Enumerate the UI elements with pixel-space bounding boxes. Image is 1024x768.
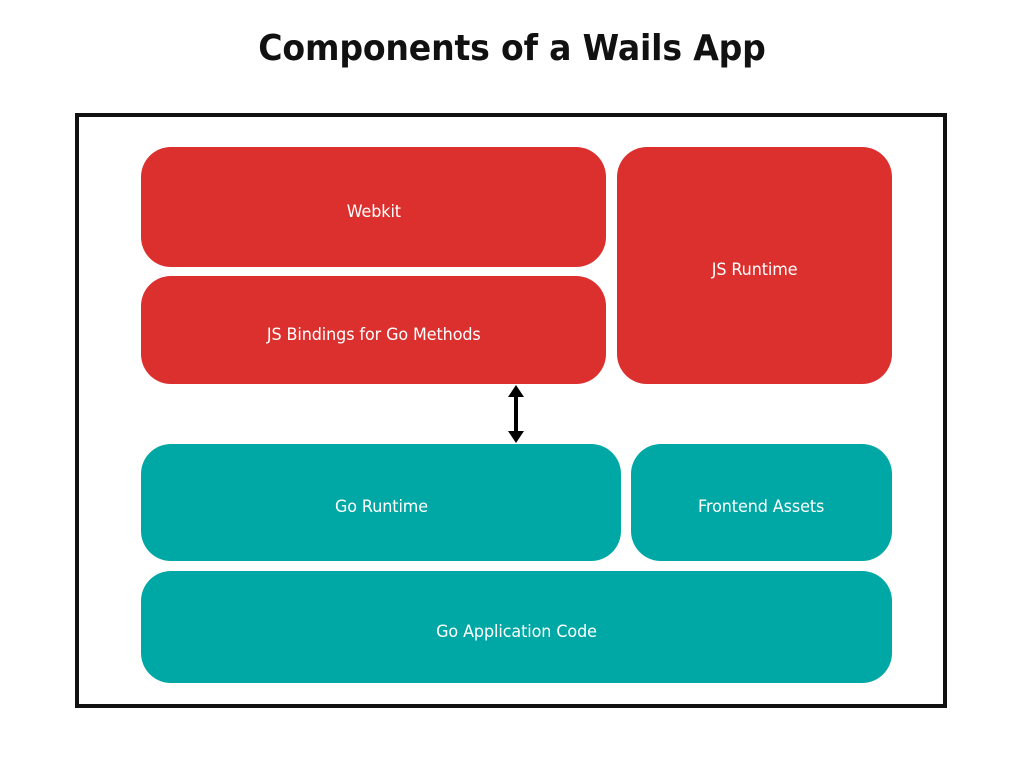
node-js-runtime[interactable]: JS Runtime <box>617 147 892 384</box>
double-headed-vertical-arrow-icon <box>504 385 528 443</box>
node-js-bindings[interactable]: JS Bindings for Go Methods <box>141 276 606 384</box>
node-webkit[interactable]: Webkit <box>141 147 606 267</box>
node-js-bindings-label: JS Bindings for Go Methods <box>267 325 481 345</box>
node-go-application-code-label: Go Application Code <box>436 622 597 642</box>
node-go-runtime-label: Go Runtime <box>334 497 427 517</box>
node-frontend-assets[interactable]: Frontend Assets <box>631 444 892 561</box>
page-title: Components of a Wails App <box>41 28 983 69</box>
node-webkit-label: Webkit <box>346 202 400 222</box>
node-go-runtime[interactable]: Go Runtime <box>141 444 621 561</box>
node-js-runtime-label: JS Runtime <box>712 260 798 280</box>
diagram-frame: Webkit JS Bindings for Go Methods JS Run… <box>75 113 947 708</box>
node-go-application-code[interactable]: Go Application Code <box>141 571 892 683</box>
node-frontend-assets-label: Frontend Assets <box>698 497 824 517</box>
